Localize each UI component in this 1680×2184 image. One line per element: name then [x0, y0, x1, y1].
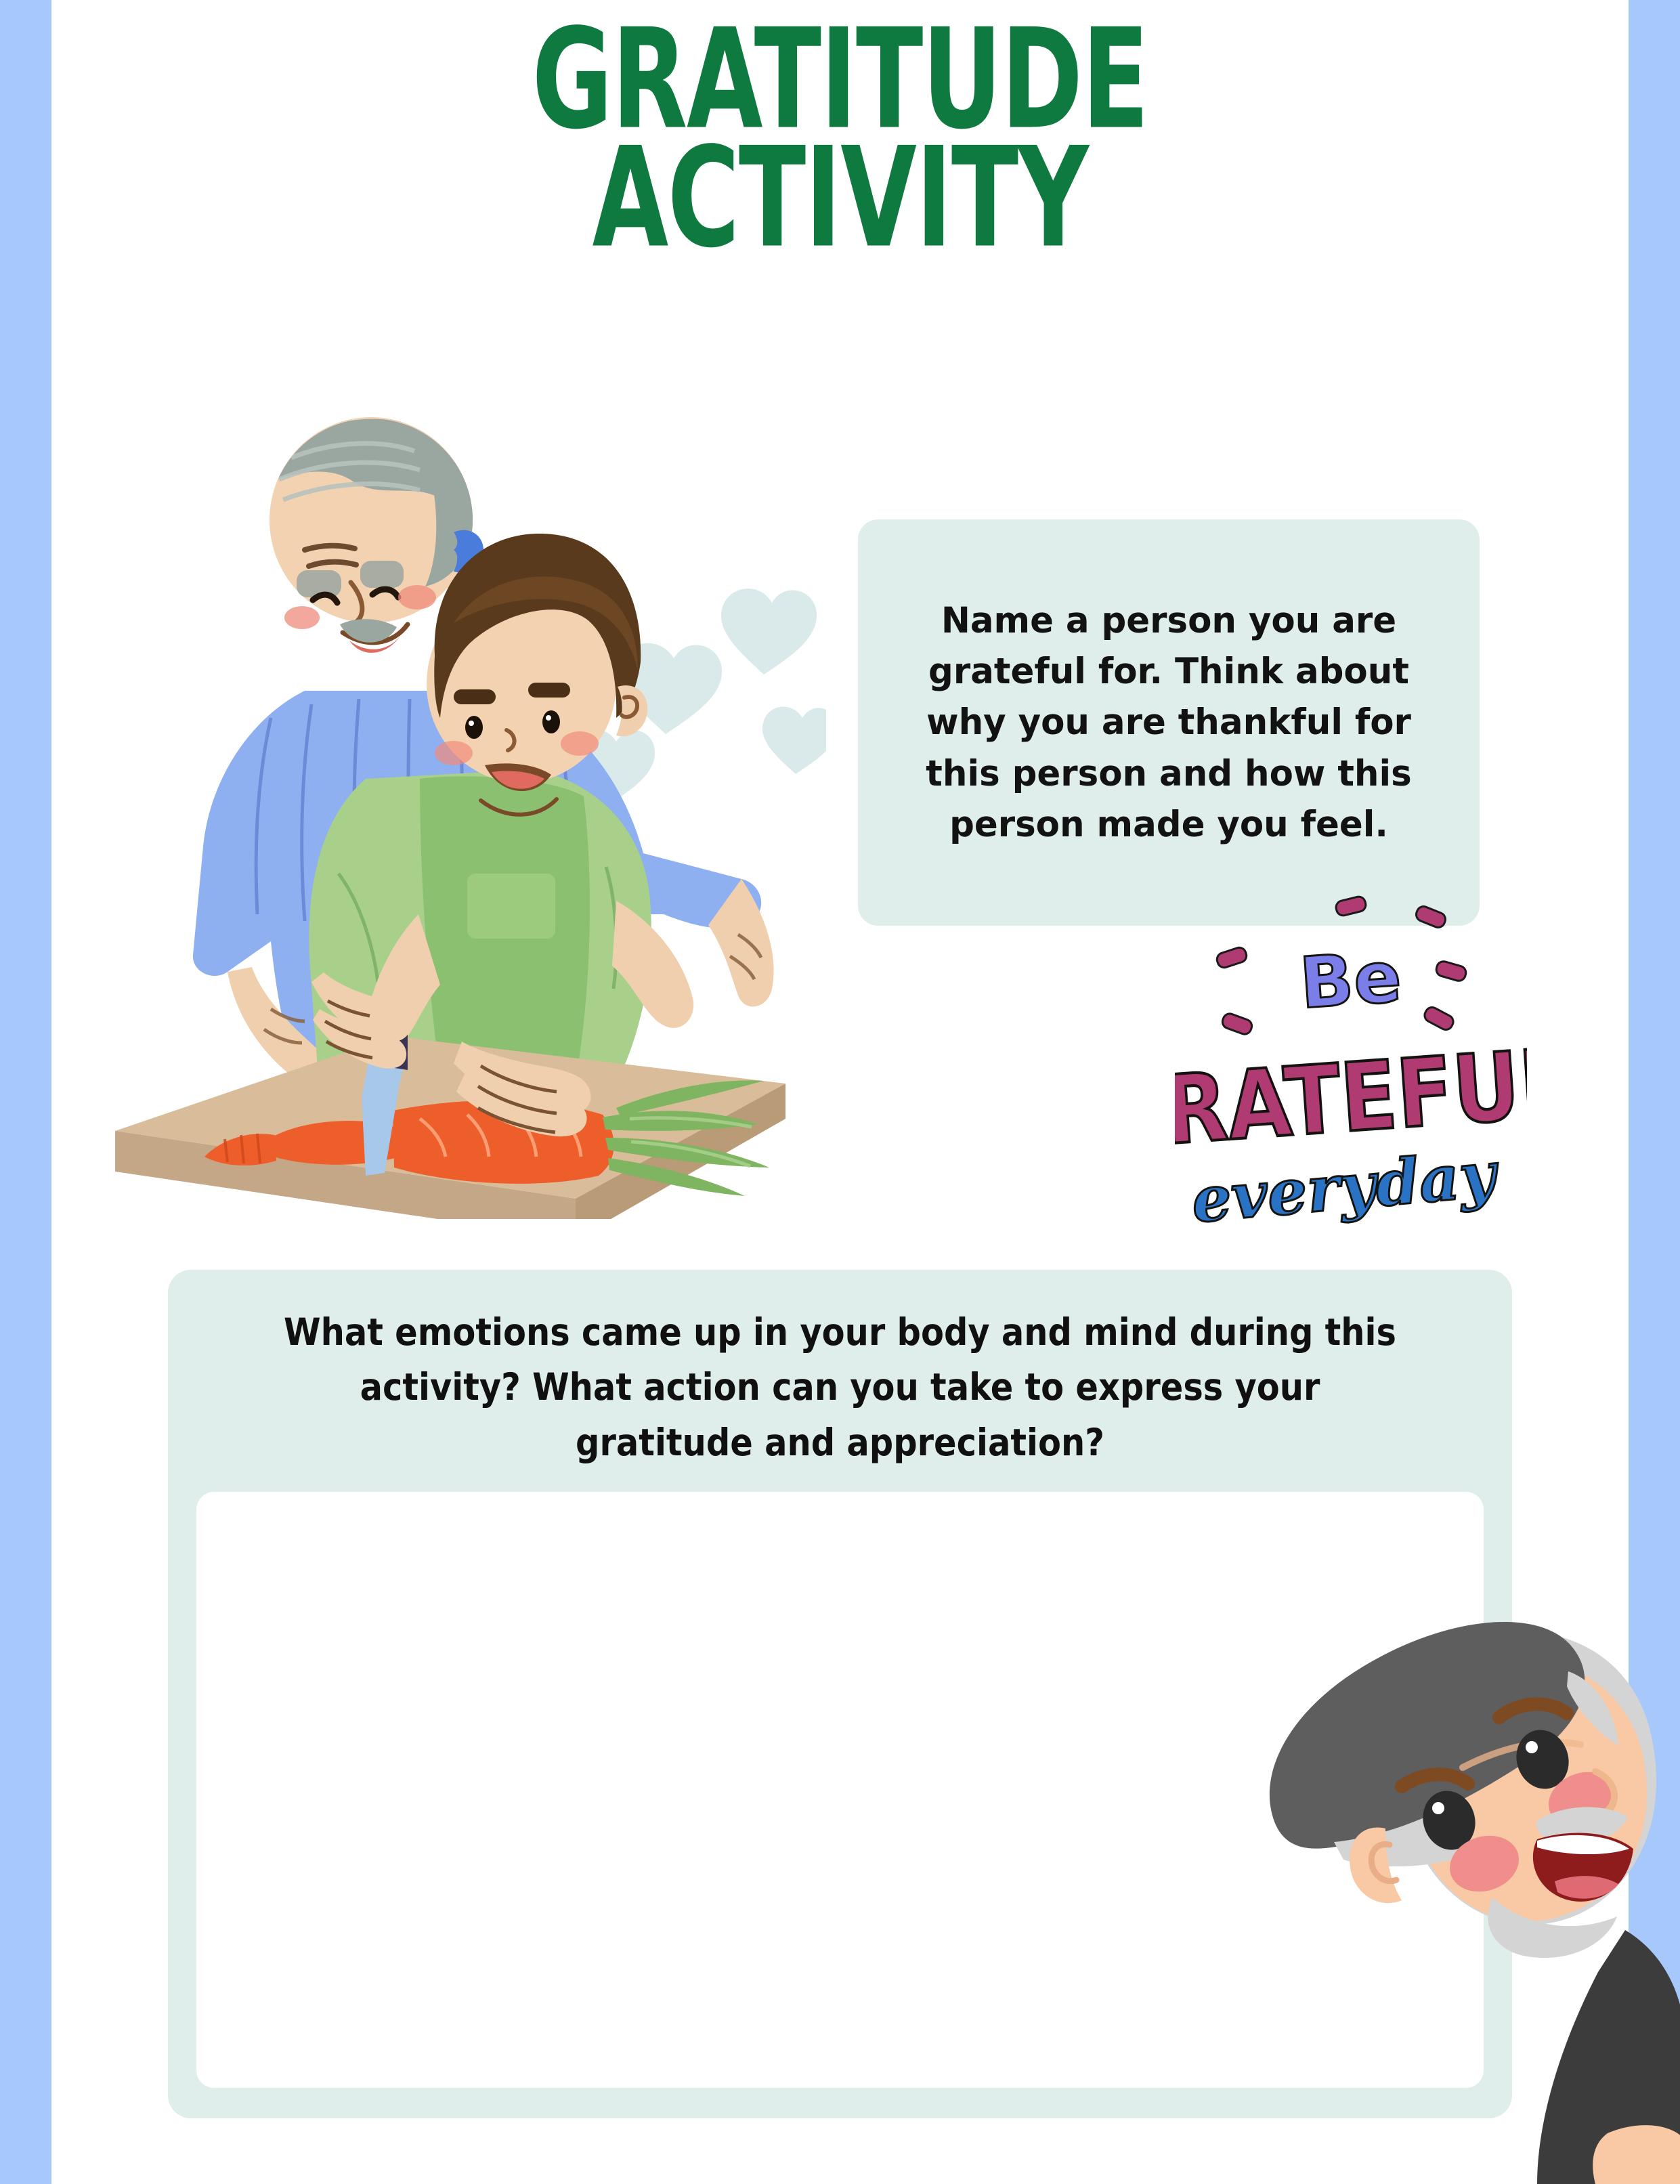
be-grateful-everyday-sticker: Be GRATEFUL everyday: [1175, 891, 1527, 1304]
grandfather-and-boy-cooking-illustration: [102, 400, 826, 1219]
left-border-strip: [0, 0, 51, 2184]
gratitude-prompt-card: Name a person you are grateful for. Thin…: [858, 519, 1480, 926]
reflection-answer-area[interactable]: [196, 1492, 1484, 2088]
worksheet-page: GRATITUDE ACTIVITY: [0, 0, 1680, 2184]
svg-text:Be: Be: [1297, 935, 1404, 1025]
page-title-line-2: ACTIVITY: [209, 142, 1471, 255]
reflection-question-text: What emotions came up in your body and m…: [272, 1305, 1408, 1470]
page-title-line-1: GRATITUDE: [209, 23, 1471, 136]
reflection-card: What emotions came up in your body and m…: [168, 1270, 1512, 2118]
page-title: GRATITUDE ACTIVITY: [51, 23, 1629, 242]
right-border-strip: [1629, 0, 1680, 2184]
sticker-word-be: Be: [1297, 935, 1404, 1025]
gratitude-prompt-text: Name a person you are grateful for. Thin…: [895, 595, 1443, 850]
